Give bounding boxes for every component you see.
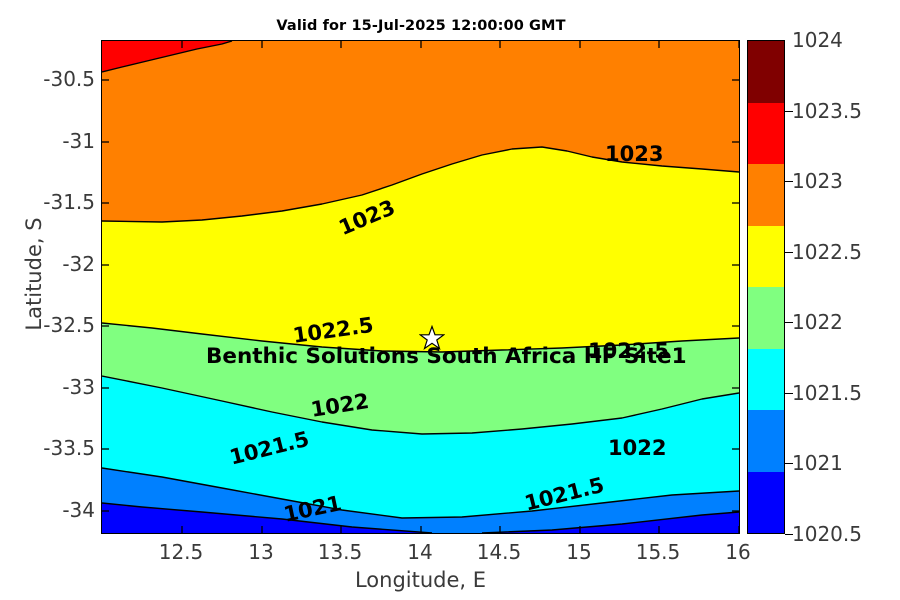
contour-label-1022-right: 1022 <box>608 436 666 460</box>
y-tick-label: -33.5 <box>9 436 95 460</box>
colorbar-tick-label: 1021 <box>792 451 843 475</box>
x-tick-label: 14.5 <box>454 540 544 564</box>
contour-label-1023-right: 1023 <box>605 142 663 166</box>
colorbar-ticks <box>747 40 793 534</box>
x-tick-label: 16 <box>693 540 783 564</box>
x-tick-label: 13.5 <box>295 540 385 564</box>
x-tick-label: 15.5 <box>613 540 703 564</box>
colorbar-tick-label: 1024 <box>792 28 843 52</box>
colorbar-tick-label: 1023 <box>792 169 843 193</box>
colorbar-tick-label: 1023.5 <box>792 99 862 123</box>
colorbar-tick-label: 1020.5 <box>792 522 862 546</box>
y-tick-label: -34 <box>9 498 95 522</box>
contour-plot-area[interactable]: 102310231022.51022.5102210221021.51021.5… <box>101 40 740 534</box>
page-title: Valid for 15-Jul-2025 12:00:00 GMT <box>101 18 741 34</box>
colorbar-tick-label: 1022 <box>792 310 843 334</box>
x-tick-label: 15 <box>534 540 624 564</box>
colorbar-tick-label: 1021.5 <box>792 381 862 405</box>
x-tick-label: 12.5 <box>136 540 226 564</box>
y-axis-title: Latitude, S <box>22 144 46 404</box>
x-axis-title: Longitude, E <box>101 568 740 592</box>
y-axis-ticks: -30.5-31-31.5-32-32.5-33-33.5-34 <box>0 0 95 600</box>
x-tick-label: 13 <box>216 540 306 564</box>
colorbar-tick-label: 1022.5 <box>792 240 862 264</box>
x-tick-label: 14 <box>375 540 465 564</box>
figure-root: Valid for 15-Jul-2025 12:00:00 GMT <box>0 0 900 600</box>
site-label: Benthic Solutions South Africa HF Site1 <box>206 344 687 369</box>
y-tick-label: -30.5 <box>9 67 95 91</box>
